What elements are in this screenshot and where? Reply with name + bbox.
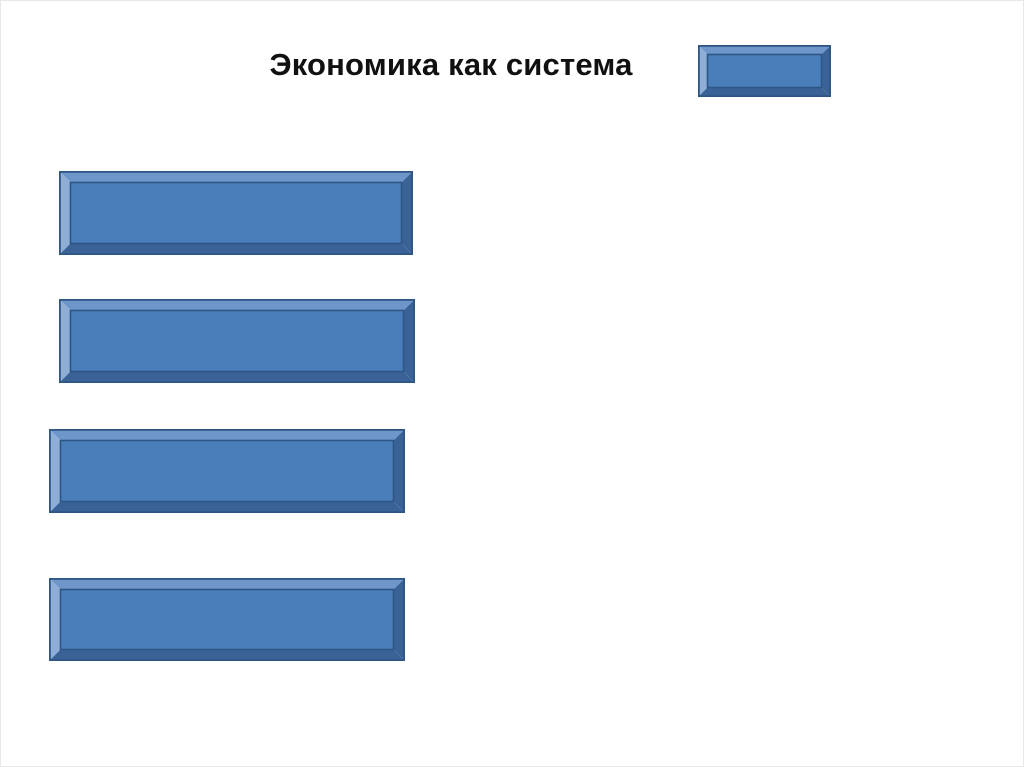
title-accent-box[interactable] xyxy=(698,45,831,97)
page-title-text: Экономика как система xyxy=(269,45,632,85)
title-accent-box-face xyxy=(707,54,822,88)
content-box-4-face xyxy=(60,589,394,650)
presentation-slide: Экономика как система xyxy=(0,0,1024,767)
content-box-2-face xyxy=(70,310,404,372)
content-box-2[interactable] xyxy=(59,299,415,383)
content-box-4[interactable] xyxy=(49,578,405,661)
content-box-1-face xyxy=(70,182,402,244)
content-box-1[interactable] xyxy=(59,171,413,255)
content-box-3[interactable] xyxy=(49,429,405,513)
content-box-3-face xyxy=(60,440,394,502)
page-title: Экономика как система xyxy=(1,45,1024,85)
